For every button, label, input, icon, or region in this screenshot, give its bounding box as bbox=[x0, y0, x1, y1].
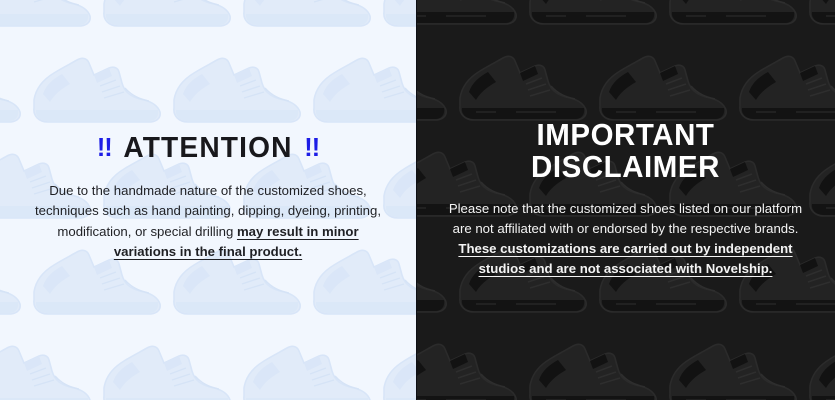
disclaimer-heading-line1: IMPORTANT bbox=[536, 117, 714, 152]
attention-body: Due to the handmade nature of the custom… bbox=[32, 181, 384, 261]
disclaimer-body-emphasis: These customizations are carried out by … bbox=[458, 241, 792, 276]
exclamation-icon-left: !! bbox=[97, 134, 112, 160]
disclaimer-heading-line2: DISCLAIMER bbox=[447, 151, 803, 183]
disclaimer-banner: !!ATTENTION!! Due to the handmade nature… bbox=[0, 0, 835, 400]
exclamation-icon-right: !! bbox=[304, 134, 319, 160]
disclaimer-heading: IMPORTANT DISCLAIMER bbox=[447, 119, 803, 183]
panel-divider bbox=[416, 0, 417, 400]
disclaimer-panel: IMPORTANT DISCLAIMER Please note that th… bbox=[416, 0, 835, 400]
disclaimer-body: Please note that the customized shoes li… bbox=[438, 199, 813, 279]
attention-content: !!ATTENTION!! Due to the handmade nature… bbox=[0, 134, 416, 261]
attention-panel: !!ATTENTION!! Due to the handmade nature… bbox=[0, 0, 416, 400]
disclaimer-content: IMPORTANT DISCLAIMER Please note that th… bbox=[416, 119, 835, 279]
attention-heading-text: ATTENTION bbox=[123, 132, 292, 164]
attention-heading: !!ATTENTION!! bbox=[37, 134, 378, 163]
disclaimer-body-normal: Please note that the customized shoes li… bbox=[449, 201, 802, 236]
